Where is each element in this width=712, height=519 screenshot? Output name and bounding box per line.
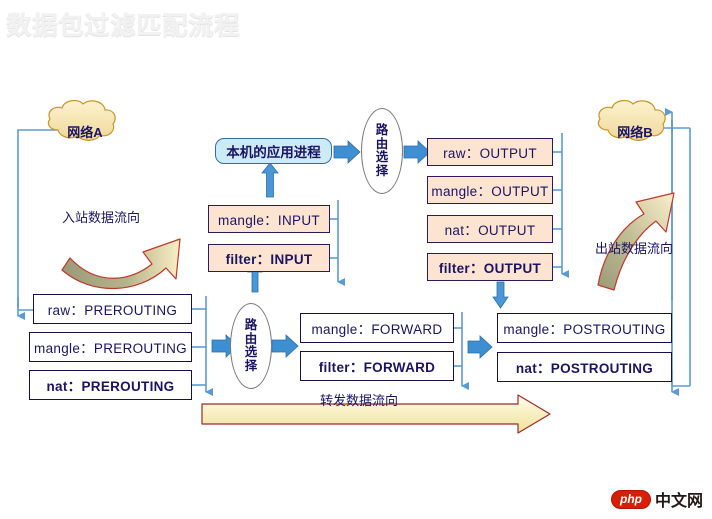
- chain-label: filter：INPUT: [226, 248, 313, 268]
- arrow-app-to-routing: [334, 141, 360, 163]
- arrow-inbound-flow: [62, 239, 180, 289]
- chain-label: filter：OUTPUT: [439, 257, 541, 277]
- arrow-input-to-app: [262, 163, 278, 197]
- connector-forward-bus: [454, 312, 462, 386]
- chain-label: nat：POSTROUTING: [516, 357, 653, 377]
- chain-label: mangle：PREROUTING: [34, 337, 187, 357]
- chain-box-raw-prerouting[interactable]: raw：PREROUTING: [33, 294, 192, 324]
- chain-box-nat-postrouting[interactable]: nat：POSTROUTING: [497, 352, 672, 382]
- routing-char: 择: [376, 165, 389, 179]
- arrow-forward-to-postrouting: [468, 336, 492, 358]
- cloud-network-a-label: 网络A: [67, 122, 102, 141]
- page-title: 数据包过滤匹配流程: [6, 6, 240, 42]
- cloud-network-b-label: 网络B: [617, 122, 652, 141]
- chain-box-nat-output[interactable]: nat：OUTPUT: [427, 215, 553, 243]
- chain-label: mangle：INPUT: [218, 209, 320, 229]
- arrow-routing-to-forward: [272, 335, 298, 357]
- routing-char: 选: [376, 151, 389, 165]
- routing-char: 择: [245, 360, 258, 374]
- chain-box-mangle-prerouting[interactable]: mangle：PREROUTING: [29, 332, 192, 362]
- routing-char: 路: [245, 319, 258, 333]
- connector-input-bus: [330, 200, 338, 282]
- app-process-box: 本机的应用进程: [215, 138, 332, 164]
- flow-label-forward: 转发数据流向: [320, 390, 398, 409]
- flow-label-outbound: 出站数据流向: [595, 238, 673, 257]
- connector-layer: [0, 0, 712, 519]
- chain-label: mangle：POSTROUTING: [503, 318, 665, 338]
- chain-box-raw-output[interactable]: raw：OUTPUT: [427, 138, 553, 166]
- site-name: 中文网: [655, 487, 703, 511]
- chain-box-filter-forward[interactable]: filter：FORWARD: [300, 351, 454, 381]
- connector-prerouting-bus: [192, 296, 206, 392]
- chain-label: filter：FORWARD: [319, 356, 435, 376]
- php-badge: php: [611, 490, 651, 509]
- chain-box-mangle-output[interactable]: mangle：OUTPUT: [427, 176, 553, 204]
- cloud-network-b: 网络B: [604, 118, 666, 144]
- chain-box-nat-prerouting[interactable]: nat：PREROUTING: [29, 370, 192, 400]
- site-logo[interactable]: php 中文网: [608, 485, 706, 513]
- arrow-output-to-postrouting: [493, 282, 508, 308]
- chain-box-mangle-input[interactable]: mangle：INPUT: [208, 205, 330, 233]
- chain-box-mangle-forward[interactable]: mangle：FORWARD: [300, 313, 454, 343]
- diagram-canvas: 数据包过滤匹配流程 网络A 网络B 本机的应用进程 路 由 选 择 路 由 选 …: [0, 0, 712, 519]
- routing-char: 由: [376, 138, 389, 152]
- chain-label: mangle：OUTPUT: [431, 180, 548, 200]
- routing-char: 路: [376, 124, 389, 138]
- routing-selection-bottom: 路 由 选 择: [230, 303, 272, 389]
- app-process-label: 本机的应用进程: [226, 141, 321, 161]
- cloud-network-a: 网络A: [54, 118, 116, 144]
- chain-label: nat：OUTPUT: [445, 219, 536, 239]
- chain-label: mangle：FORWARD: [312, 318, 443, 338]
- flow-label-inbound: 入站数据流向: [62, 207, 140, 226]
- chain-box-filter-output[interactable]: filter：OUTPUT: [427, 253, 553, 281]
- routing-char: 由: [245, 333, 258, 347]
- chain-box-mangle-postrouting[interactable]: mangle：POSTROUTING: [497, 313, 672, 343]
- chain-label: nat：PREROUTING: [47, 375, 175, 395]
- routing-selection-top: 路 由 选 择: [361, 108, 403, 194]
- routing-char: 选: [245, 346, 258, 360]
- chain-label: raw：PREROUTING: [48, 299, 177, 319]
- connector-output-bus: [553, 133, 562, 274]
- chain-label: raw：OUTPUT: [443, 142, 537, 162]
- chain-box-filter-input[interactable]: filter：INPUT: [208, 244, 330, 272]
